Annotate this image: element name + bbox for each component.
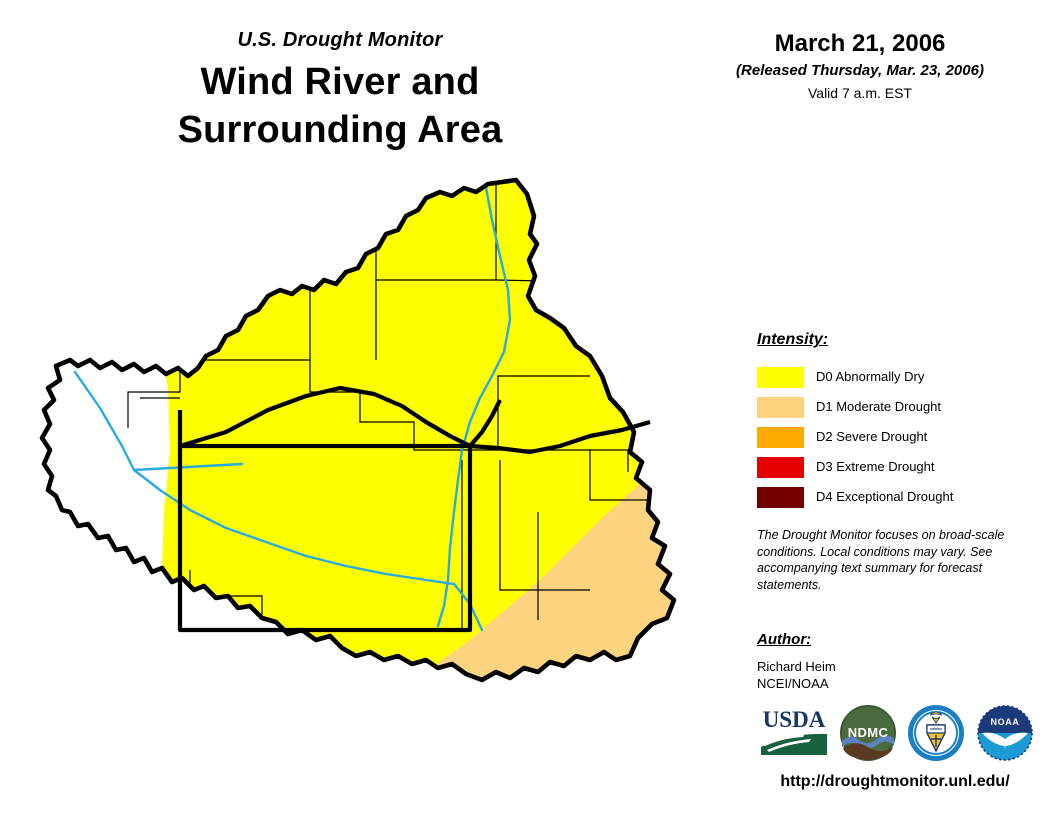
- noaa-logo-text: NOAA: [991, 717, 1020, 727]
- usda-logo[interactable]: USDA: [757, 703, 831, 765]
- legend: Intensity: D0 Abnormally Dry D1 Moderate…: [757, 330, 1047, 512]
- legend-label-d0: D0 Abnormally Dry: [816, 369, 924, 385]
- legend-label-d2: D2 Severe Drought: [816, 429, 927, 445]
- legend-label-d3: D3 Extreme Drought: [816, 459, 935, 475]
- map-class-d0-region: [158, 160, 730, 800]
- site-url[interactable]: http://droughtmonitor.unl.edu/: [740, 772, 1050, 792]
- legend-item-d0[interactable]: D0 Abnormally Dry: [757, 362, 1047, 392]
- page-title-line1: Wind River and: [200, 61, 479, 103]
- author-affiliation: NCEI/NOAA: [757, 675, 1027, 692]
- author-name: Richard Heim: [757, 658, 1027, 675]
- legend-item-d2[interactable]: D2 Severe Drought: [757, 422, 1047, 452]
- disclaimer-text: The Drought Monitor focuses on broad-sca…: [757, 527, 1027, 593]
- legend-swatch-d3: [757, 457, 804, 478]
- issue-date: March 21, 2006: [690, 30, 1030, 58]
- legend-label-d4: D4 Exceptional Drought: [816, 489, 953, 505]
- drought-map[interactable]: [30, 160, 730, 800]
- valid-time: Valid 7 a.m. EST: [690, 84, 1030, 102]
- legend-title: Intensity:: [757, 330, 1047, 350]
- unl-seal[interactable]: [905, 703, 967, 765]
- program-name: U.S. Drought Monitor: [0, 28, 680, 52]
- ndmc-logo[interactable]: NDMC: [837, 703, 899, 765]
- release-date: (Released Thursday, Mar. 23, 2006): [690, 61, 1030, 81]
- logo-row: USDA NDMC: [757, 703, 1042, 765]
- legend-item-d4[interactable]: D4 Exceptional Drought: [757, 482, 1047, 512]
- author-block: Author: Richard Heim NCEI/NOAA: [757, 630, 1027, 692]
- legend-item-d3[interactable]: D3 Extreme Drought: [757, 452, 1047, 482]
- legend-swatch-d1: [757, 397, 804, 418]
- page-title: Wind River and Surrounding Area: [0, 58, 680, 154]
- legend-swatch-d4: [757, 487, 804, 508]
- noaa-logo[interactable]: NOAA: [973, 703, 1037, 765]
- map-header-left: U.S. Drought Monitor Wind River and Surr…: [0, 28, 680, 154]
- legend-label-d1: D1 Moderate Drought: [816, 399, 941, 415]
- author-heading: Author:: [757, 630, 1027, 650]
- usda-logo-text: USDA: [763, 707, 826, 732]
- legend-swatch-d0: [757, 367, 804, 388]
- legend-swatch-d2: [757, 427, 804, 448]
- ndmc-logo-text: NDMC: [848, 725, 889, 740]
- page-title-line2: Surrounding Area: [0, 106, 680, 154]
- map-header-right: March 21, 2006 (Released Thursday, Mar. …: [690, 30, 1030, 102]
- legend-item-d1[interactable]: D1 Moderate Drought: [757, 392, 1047, 422]
- drought-map-svg[interactable]: [30, 160, 730, 800]
